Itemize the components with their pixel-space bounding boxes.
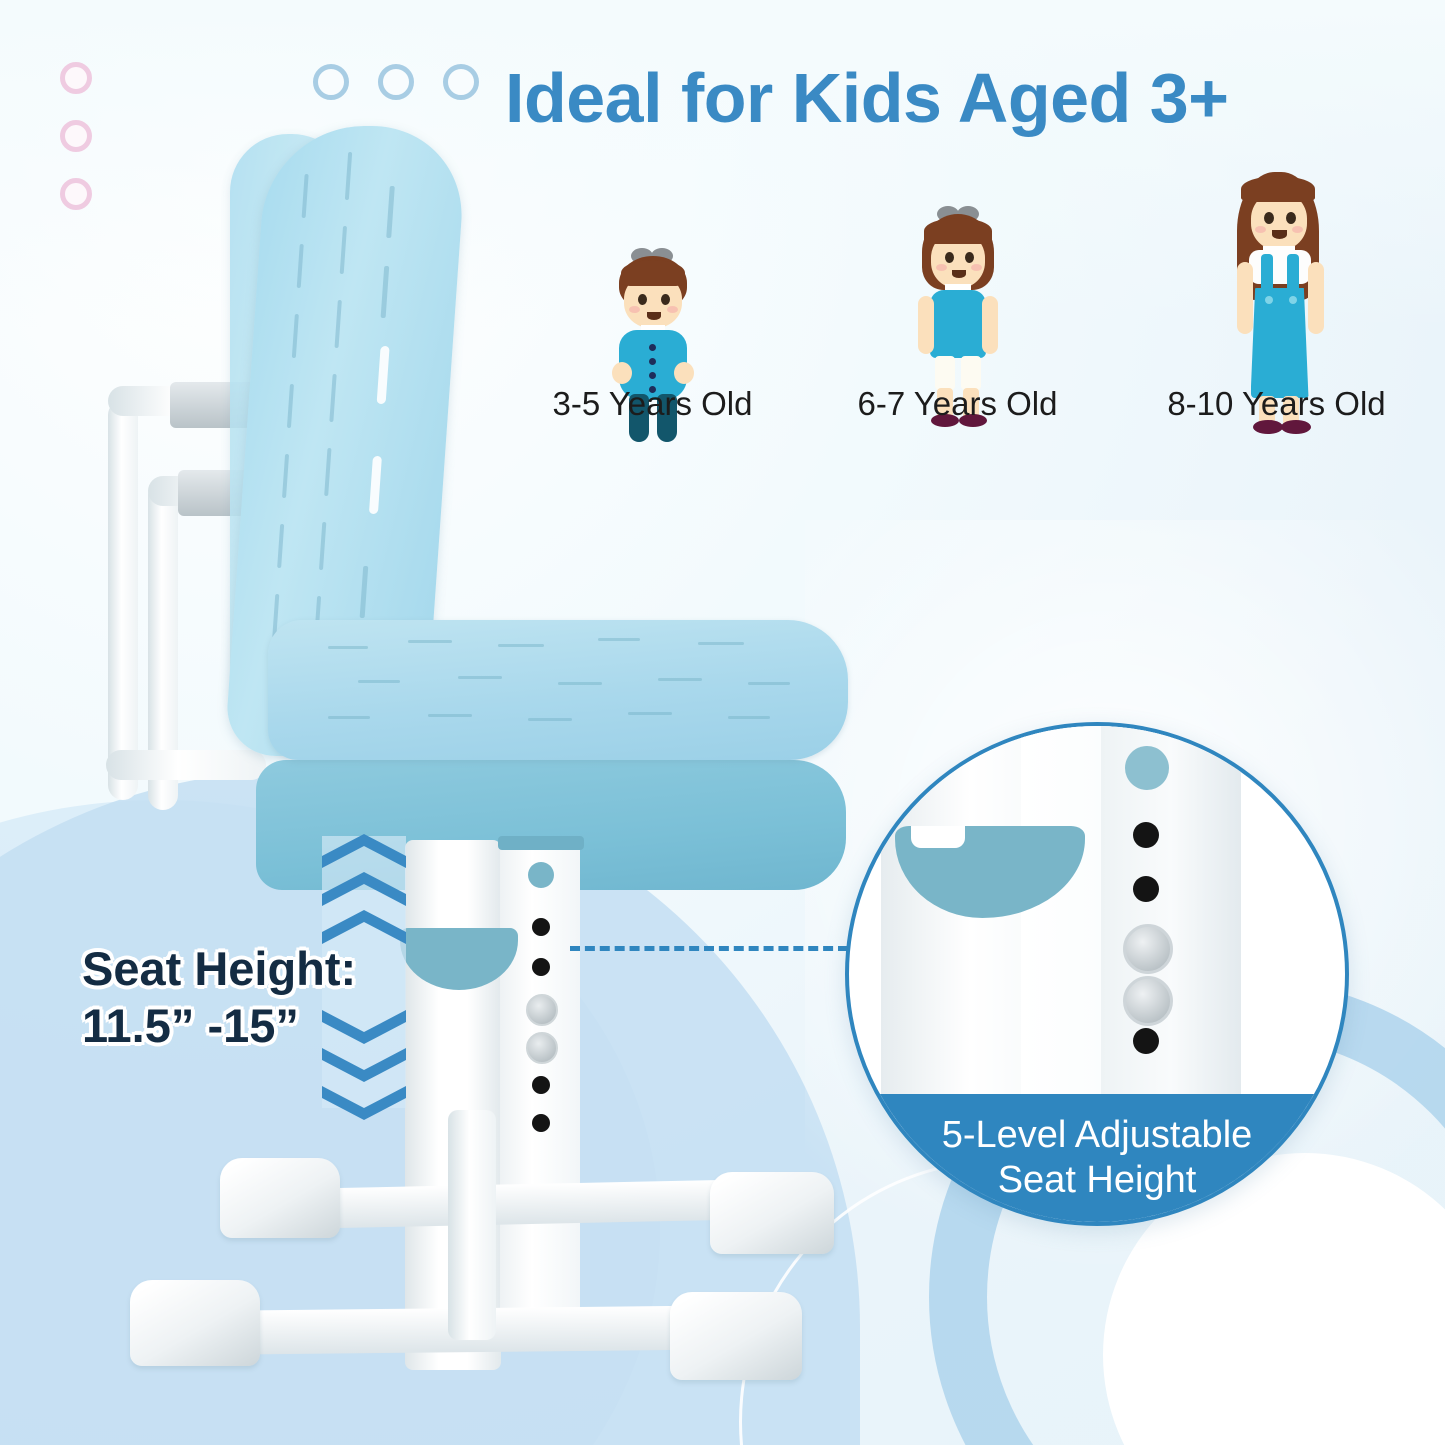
callout-banner: 5-Level Adjustable Seat Height — [849, 1094, 1345, 1222]
seat-height-line2: 11.5” -15” — [82, 997, 412, 1054]
zoom-callout: 5-Level Adjustable Seat Height — [845, 722, 1349, 1226]
chair-frame-tube — [108, 400, 138, 800]
blue-dot-icon — [443, 64, 479, 100]
chair-foot — [220, 1158, 340, 1238]
seat-height-line1: Seat Height: — [82, 940, 412, 997]
adjust-hole — [532, 1076, 550, 1094]
chevron-down-icon — [322, 1086, 406, 1120]
adjust-screw — [526, 1032, 558, 1064]
chevron-up-icon — [322, 872, 406, 906]
chair-foot — [670, 1292, 802, 1380]
callout-banner-line1: 5-Level Adjustable — [942, 1113, 1253, 1158]
adjust-hole — [532, 958, 550, 976]
seat-height-caption: Seat Height: 11.5” -15” — [82, 940, 412, 1055]
callout-hole-indicator — [1125, 746, 1169, 790]
chair-seat — [268, 620, 848, 760]
callout-lever-notch — [911, 826, 965, 848]
callout-adjust-hole — [1133, 876, 1159, 902]
blue-dot-icon — [378, 64, 414, 100]
pink-dot-icon — [60, 62, 92, 94]
chair-foot — [710, 1172, 834, 1254]
blue-dot-icon — [313, 64, 349, 100]
infographic-canvas: Ideal for Kids Aged 3+ — [0, 0, 1445, 1445]
adjust-hole — [532, 918, 550, 936]
chevron-up-icon — [322, 910, 406, 944]
chair-column-base — [448, 1110, 496, 1340]
column-accent-ring — [498, 836, 584, 850]
adjust-hole-indicator — [528, 862, 554, 888]
adjust-hole — [532, 1114, 550, 1132]
callout-adjust-screw — [1123, 924, 1173, 974]
callout-connector-line — [570, 946, 848, 951]
age-group-item: 8-10 Years Old — [1113, 145, 1440, 445]
callout-banner-line2: Seat Height — [942, 1158, 1253, 1203]
callout-adjust-hole — [1133, 1028, 1159, 1054]
chevron-up-icon — [322, 834, 406, 868]
age-group-label: 8-10 Years Old — [1113, 385, 1440, 423]
kids-chair-product-image — [60, 110, 880, 1410]
chair-foot — [130, 1280, 260, 1366]
callout-adjust-screw — [1123, 976, 1173, 1026]
adjust-screw — [526, 994, 558, 1026]
callout-adjust-hole — [1133, 822, 1159, 848]
chair-frame-tube — [106, 750, 266, 780]
